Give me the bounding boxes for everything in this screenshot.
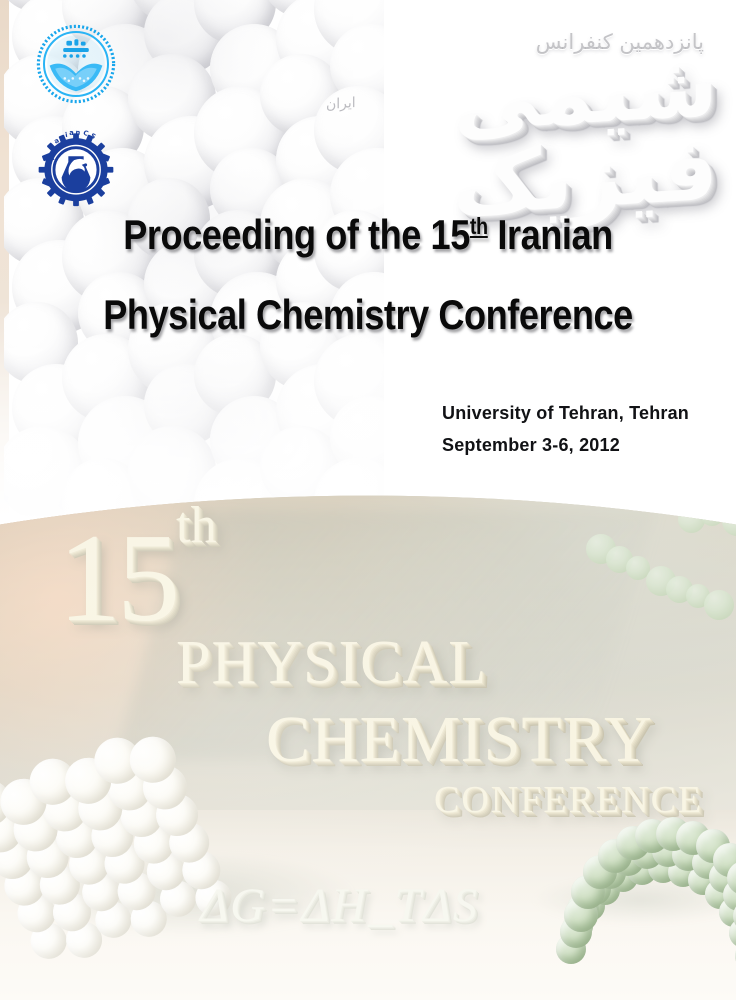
svg-text:a: a: [69, 129, 74, 137]
nanotube-ring-column: [322, 0, 384, 530]
render-scene: 15 th PHYSICAL CHEMISTRY CONFERENCE ΔG=Δ…: [0, 480, 736, 1000]
render-word-physical: PHYSICAL: [176, 628, 487, 699]
iranian-chemical-society-logo: I r a n i a n C S: [28, 118, 124, 208]
svg-text:i: i: [65, 131, 68, 139]
venue-dates: September 3-6, 2012: [442, 430, 689, 462]
top-photo-section: I r a n i a n C S پانزدهمین کنفرانس شیمی…: [0, 0, 736, 540]
render-number-15: 15: [58, 516, 176, 642]
venue-location: University of Tehran, Tehran: [442, 398, 689, 430]
proceedings-cover-page: I r a n i a n C S پانزدهمین کنفرانس شیمی…: [0, 0, 736, 1000]
title-line-1-post: Iranian: [488, 211, 613, 258]
letter-cast-shadow: [114, 510, 656, 760]
render-word-chemistry: CHEMISTRY: [266, 702, 653, 778]
bottom-render-section: 15 th PHYSICAL CHEMISTRY CONFERENCE ΔG=Δ…: [0, 480, 736, 1000]
chain-atom: [704, 590, 734, 620]
venue-details: University of Tehran, Tehran September 3…: [442, 398, 689, 461]
render-ordinal-th: th: [176, 500, 216, 552]
chain-atom: [700, 502, 724, 526]
ordinal-suffix: th: [470, 213, 488, 239]
chain-atom: [722, 506, 736, 536]
green-sphere-chain: [582, 500, 736, 610]
green-molecular-arch: [572, 792, 736, 972]
svg-text:n: n: [75, 128, 81, 137]
persian-subtitle: پانزدهمین کنفرانس: [536, 30, 704, 54]
university-of-tehran-logo: [36, 24, 116, 104]
